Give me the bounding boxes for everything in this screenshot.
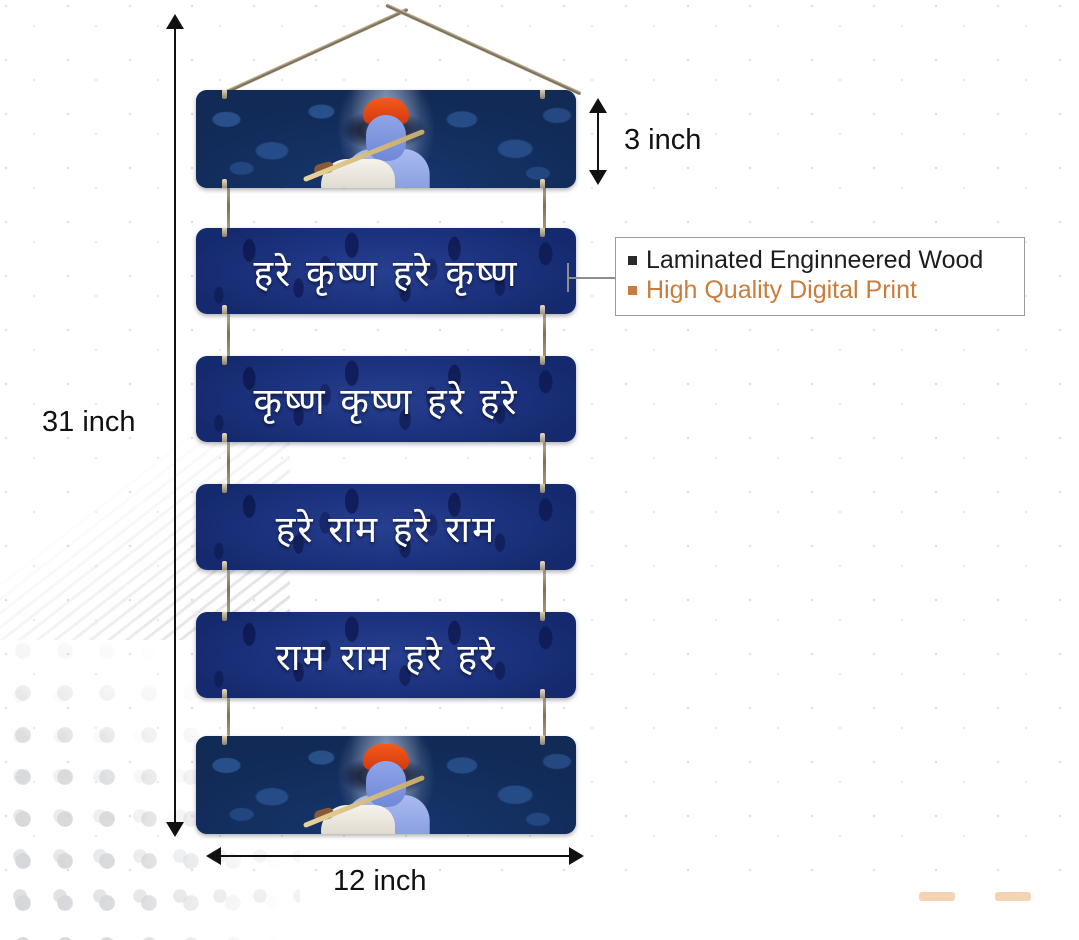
screw-eye bbox=[222, 689, 227, 698]
screw-eye bbox=[540, 561, 545, 570]
connector-string bbox=[227, 442, 230, 486]
feature-row-print: High Quality Digital Print bbox=[628, 276, 1014, 306]
connector-string bbox=[227, 698, 230, 736]
mantra-text: कृष्ण कृष्ण हरे हरे bbox=[196, 356, 576, 442]
screw-eye bbox=[540, 736, 545, 745]
screw-eye bbox=[222, 433, 227, 442]
height-dimension-line bbox=[174, 26, 176, 826]
screw-eye bbox=[222, 90, 227, 99]
screw-eye bbox=[540, 356, 545, 365]
screw-eye bbox=[540, 90, 545, 99]
screw-eye bbox=[222, 736, 227, 745]
screw-eye bbox=[540, 305, 545, 314]
height-dimension-label: 31 inch bbox=[42, 406, 136, 439]
connector-string bbox=[227, 314, 230, 358]
panel-krishna-bottom bbox=[196, 736, 576, 834]
connector-string bbox=[543, 698, 546, 736]
connector-string bbox=[543, 570, 546, 614]
mantra-text: हरे राम हरे राम bbox=[196, 484, 576, 570]
connector-string bbox=[543, 186, 546, 230]
screw-eye bbox=[540, 433, 545, 442]
screw-eye bbox=[222, 228, 227, 237]
connector-string bbox=[543, 314, 546, 358]
rope-hanger-left-leg bbox=[212, 7, 408, 99]
screw-eye bbox=[222, 612, 227, 621]
width-arrow-right bbox=[569, 847, 584, 865]
screw-eye bbox=[222, 356, 227, 365]
corner-chip bbox=[919, 892, 955, 901]
bullet-square-icon bbox=[628, 256, 637, 265]
features-callout-box: Laminated Enginneered Wood High Quality … bbox=[615, 237, 1025, 316]
panel-height-dimension-label: 3 inch bbox=[624, 124, 701, 157]
mantra-text: हरे कृष्ण हरे कृष्ण bbox=[196, 228, 576, 314]
corner-chip bbox=[995, 892, 1031, 901]
feature-label-print: High Quality Digital Print bbox=[646, 276, 917, 306]
width-dimension-label: 12 inch bbox=[333, 865, 427, 898]
screw-eye bbox=[222, 484, 227, 493]
panel-height-dimension-line bbox=[597, 110, 599, 172]
screw-eye bbox=[540, 228, 545, 237]
panel-mantra-4: राम राम हरे हरे bbox=[196, 612, 576, 698]
background-corner-chips-bottom-right bbox=[799, 848, 1079, 908]
panel-height-arrow-bottom bbox=[589, 170, 607, 185]
krishna-illustration bbox=[196, 90, 576, 188]
krishna-illustration bbox=[196, 736, 576, 834]
connector-string bbox=[227, 186, 230, 230]
width-dimension-line bbox=[219, 855, 571, 857]
feature-label-material: Laminated Enginneered Wood bbox=[646, 246, 983, 276]
screw-eye bbox=[222, 305, 227, 314]
product-wall-hanging: हरे कृष्ण हरे कृष्ण कृष्ण कृष्ण हरे हरे … bbox=[196, 0, 586, 840]
panel-mantra-1: हरे कृष्ण हरे कृष्ण bbox=[196, 228, 576, 314]
panel-mantra-3: हरे राम हरे राम bbox=[196, 484, 576, 570]
screw-eye bbox=[540, 689, 545, 698]
panel-krishna-top bbox=[196, 90, 576, 188]
feature-row-material: Laminated Enginneered Wood bbox=[628, 246, 1014, 276]
connector-string bbox=[227, 570, 230, 614]
mantra-text: राम राम हरे हरे bbox=[196, 612, 576, 698]
screw-eye bbox=[222, 561, 227, 570]
screw-eye bbox=[540, 179, 545, 188]
panel-mantra-2: कृष्ण कृष्ण हरे हरे bbox=[196, 356, 576, 442]
screw-eye bbox=[540, 612, 545, 621]
screw-eye bbox=[540, 484, 545, 493]
bullet-square-icon bbox=[628, 286, 637, 295]
height-arrow-bottom bbox=[166, 822, 184, 837]
screw-eye bbox=[222, 179, 227, 188]
rope-hanger-right-leg bbox=[385, 3, 581, 95]
connector-string bbox=[543, 442, 546, 486]
